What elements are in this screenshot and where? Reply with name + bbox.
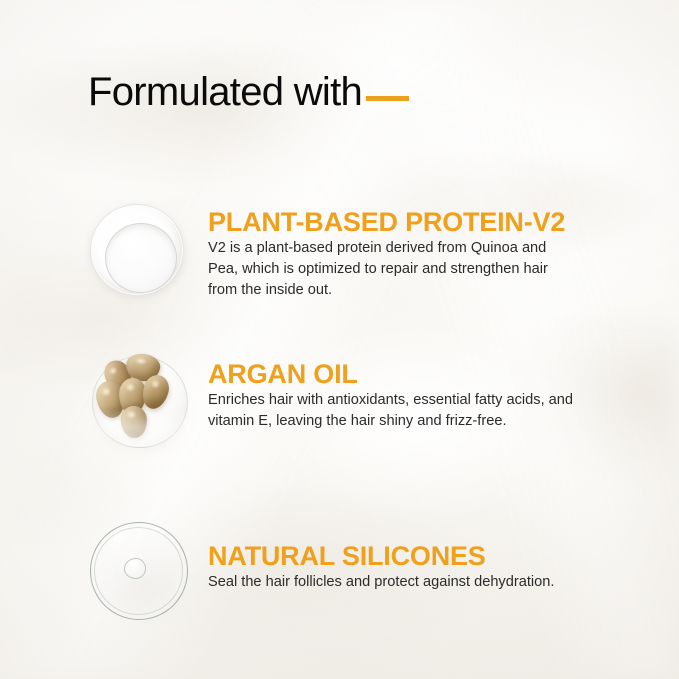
ingredient-description: Enriches hair with antioxidants, essenti… (208, 390, 573, 431)
formulated-with-infographic: Formulated with PLANT-BASED PROTEIN-V2 V… (0, 0, 679, 679)
ingredient-row-natural-silicones: NATURAL SILICONES Seal the hair follicle… (0, 516, 679, 628)
ingredient-title: NATURAL SILICONES (208, 542, 554, 571)
ingredient-row-plant-based-protein: PLANT-BASED PROTEIN-V2 V2 is a plant-bas… (0, 196, 679, 308)
ingredient-copy: ARGAN OIL Enriches hair with antioxidant… (208, 346, 573, 432)
clear-glass-dish-icon (84, 516, 196, 628)
silicone-droplet (124, 558, 146, 579)
argan-nuts-icon (84, 346, 196, 458)
header-accent-dash (366, 96, 409, 101)
ingredient-description: V2 is a plant-based protein derived from… (208, 238, 565, 300)
ingredient-title: ARGAN OIL (208, 360, 573, 389)
ingredient-copy: PLANT-BASED PROTEIN-V2 V2 is a plant-bas… (208, 196, 565, 300)
nut-highlight (135, 357, 148, 366)
ingredient-description: Seal the hair follicles and protect agai… (208, 572, 554, 593)
ingredient-row-argan-oil: ARGAN OIL Enriches hair with antioxidant… (0, 346, 679, 458)
ingredient-copy: NATURAL SILICONES Seal the hair follicle… (208, 516, 554, 593)
bowl-outer (90, 204, 184, 296)
page-header: Formulated with (88, 72, 409, 112)
nut-highlight (107, 365, 119, 377)
nut-highlight (101, 386, 113, 397)
frosted-white-bowl-icon (84, 196, 196, 308)
page-title: Formulated with (88, 72, 362, 112)
ingredient-title: PLANT-BASED PROTEIN-V2 (208, 208, 565, 237)
nut-highlight (126, 410, 136, 419)
nut-highlight (150, 378, 161, 389)
nut-highlight (126, 383, 136, 393)
